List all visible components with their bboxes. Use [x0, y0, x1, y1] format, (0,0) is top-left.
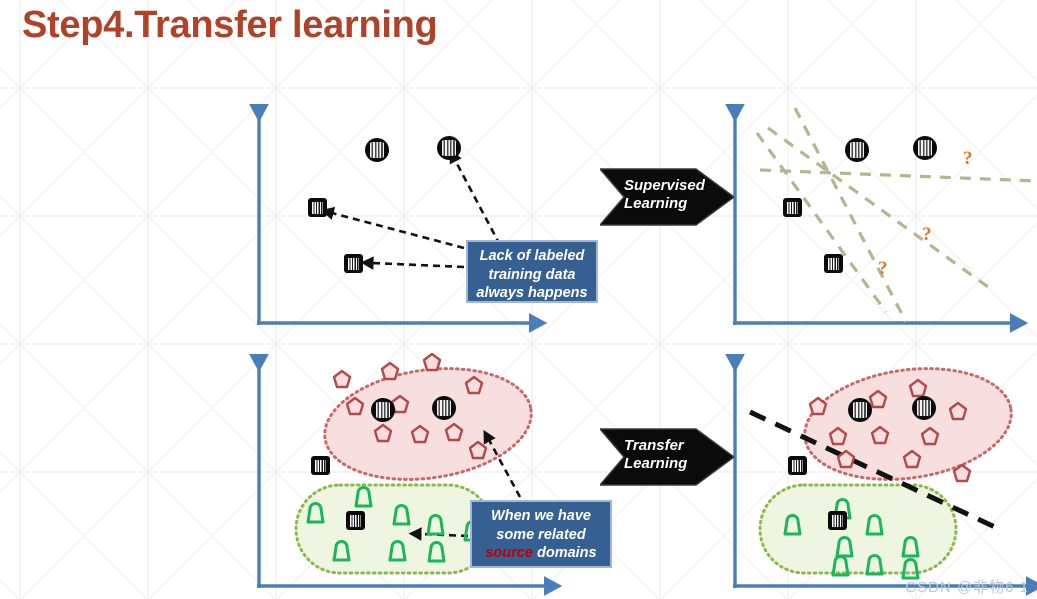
target-triangle-markers: [0, 0, 1037, 599]
class-b-square-marker: [828, 511, 847, 530]
chevron-label: Supervised Learning: [624, 177, 705, 213]
chevron-transfer-learning: Transfer Learning: [600, 425, 734, 489]
chevron-label-line: Supervised: [624, 177, 705, 195]
chevron-label-line: Learning: [624, 455, 687, 473]
panel-bottom-right: [0, 0, 1037, 599]
chevron-supervised-learning: Supervised Learning: [600, 165, 734, 229]
slide-canvas: Step4.Transfer learning: [0, 0, 1037, 599]
class-a-circle-marker: [912, 396, 936, 420]
class-a-circle-marker: [848, 398, 872, 422]
chevron-label-line: Transfer: [624, 437, 687, 455]
chevron-label-line: Learning: [624, 195, 705, 213]
chevron-label: Transfer Learning: [624, 437, 687, 473]
class-b-square-marker: [788, 456, 807, 475]
csdn-watermark: CSDN @非物6 1: [905, 576, 1029, 597]
